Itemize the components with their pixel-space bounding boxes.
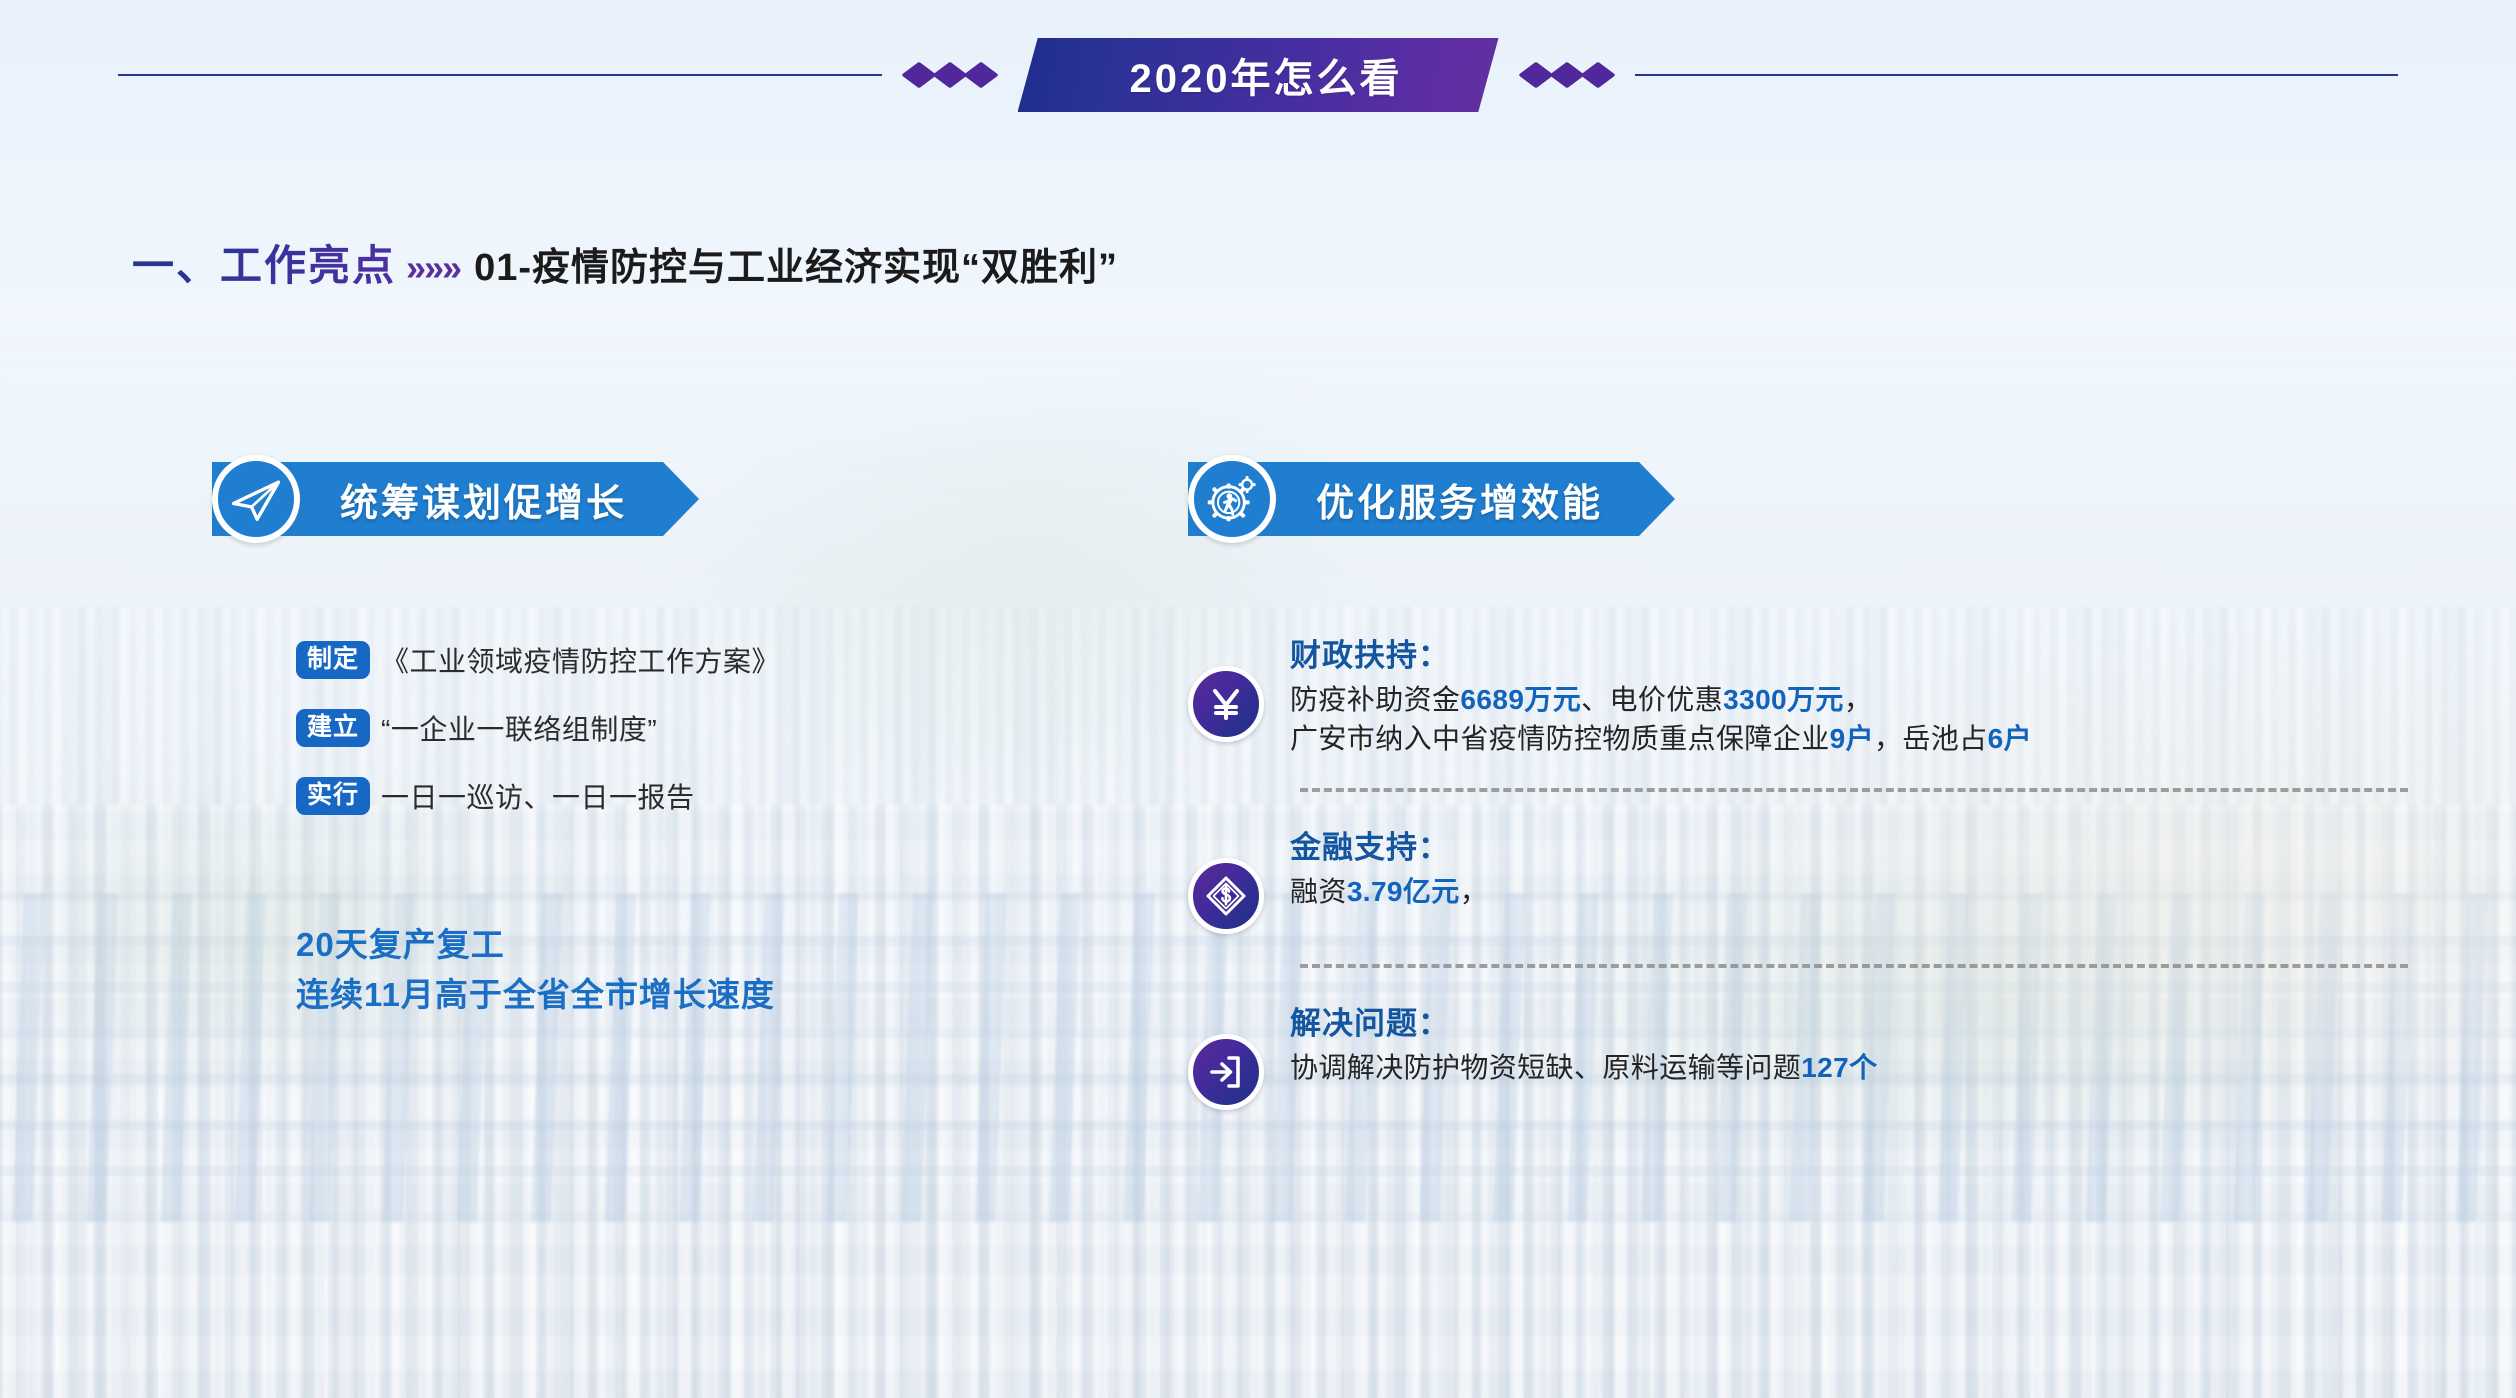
diamond-group-left <box>908 64 992 86</box>
item-heading: 金融支持： <box>1290 822 2408 867</box>
list-item: 金融支持： 融资3.79亿元， <box>1188 820 2408 934</box>
section-header-right: 优化服务增效能 <box>1188 456 1675 542</box>
item-text-block: 金融支持： 融资3.79亿元， <box>1290 822 2408 911</box>
item-divider <box>1300 964 2408 968</box>
highlight-line-1: 20天复产复工 <box>296 920 775 970</box>
item-heading: 财政扶持： <box>1290 630 2408 675</box>
chevron-right-icon: »»» <box>406 247 460 289</box>
section-label-left: 统筹谋划促增长 <box>340 472 627 527</box>
list-item: 制定 《工业领域疫情防控工作方案》 <box>296 640 916 680</box>
money-note-icon <box>1188 858 1264 934</box>
highlight-line-2: 连续11月高于全省全市增长速度 <box>296 970 775 1020</box>
diamond-icon <box>901 62 936 89</box>
section-header-left: 统筹谋划促增长 <box>212 456 699 542</box>
item-line: 广安市纳入中省疫情防控物质重点保障企业9户，岳池占6户 <box>1290 719 2408 758</box>
slide-canvas: 2020年怎么看 一、工作亮点 »»» 01-疫情防控与工业经济实现“双胜利” … <box>0 0 2516 1398</box>
row-tag: 实行 <box>296 777 370 814</box>
list-item: 实行 一日一巡访、一日一报告 <box>296 776 916 816</box>
diamond-icon <box>1549 62 1584 89</box>
subtitle-prefix: 一、工作亮点 <box>132 232 396 293</box>
slide-header: 2020年怎么看 <box>0 0 2516 150</box>
diamond-icon <box>963 62 998 89</box>
title-banner: 2020年怎么看 <box>1018 38 1499 112</box>
section-label-right: 优化服务增效能 <box>1316 472 1603 527</box>
list-item: 解决问题： 协调解决防护物资短缺、原料运输等问题127个 <box>1188 996 2408 1110</box>
item-line: 协调解决防护物资短缺、原料运输等问题127个 <box>1290 1048 2408 1087</box>
right-column-list: 财政扶持： 防疫补助资金6689万元、电价优惠3300万元， 广安市纳入中省疫情… <box>1188 628 2408 1110</box>
paper-plane-icon <box>212 455 300 543</box>
diamond-icon <box>1580 62 1615 89</box>
row-text: “一企业一联络组制度” <box>381 708 657 748</box>
diamond-icon <box>932 62 967 89</box>
list-item: 建立 “一企业一联络组制度” <box>296 708 916 748</box>
section-subtitle: 一、工作亮点 »»» 01-疫情防控与工业经济实现“双胜利” <box>132 232 1118 293</box>
header-rule-right <box>1635 74 2399 76</box>
gear-runner-icon <box>1188 455 1276 543</box>
item-heading: 解决问题： <box>1290 998 2408 1043</box>
yen-coin-icon <box>1188 666 1264 742</box>
left-column-list: 制定 《工业领域疫情防控工作方案》 建立 “一企业一联络组制度” 实行 一日一巡… <box>296 640 916 844</box>
row-text: 《工业领域疫情防控工作方案》 <box>381 640 780 680</box>
item-line: 融资3.79亿元， <box>1290 872 2408 911</box>
subtitle-text: 01-疫情防控与工业经济实现“双胜利” <box>474 236 1118 291</box>
item-divider <box>1300 788 2408 792</box>
item-text-block: 解决问题： 协调解决防护物资短缺、原料运输等问题127个 <box>1290 998 2408 1087</box>
item-line: 防疫补助资金6689万元、电价优惠3300万元， <box>1290 680 2408 719</box>
left-column-highlight: 20天复产复工 连续11月高于全省全市增长速度 <box>296 920 775 1019</box>
exit-arrow-icon <box>1188 1034 1264 1110</box>
header-rule-left <box>118 74 882 76</box>
row-tag: 制定 <box>296 641 370 678</box>
row-tag: 建立 <box>296 709 370 746</box>
banner-title-text: 2020年怎么看 <box>1130 46 1403 104</box>
diamond-group-right <box>1525 64 1609 86</box>
diamond-icon <box>1518 62 1553 89</box>
list-item: 财政扶持： 防疫补助资金6689万元、电价优惠3300万元， 广安市纳入中省疫情… <box>1188 628 2408 758</box>
item-text-block: 财政扶持： 防疫补助资金6689万元、电价优惠3300万元， 广安市纳入中省疫情… <box>1290 630 2408 758</box>
row-text: 一日一巡访、一日一报告 <box>381 776 695 816</box>
